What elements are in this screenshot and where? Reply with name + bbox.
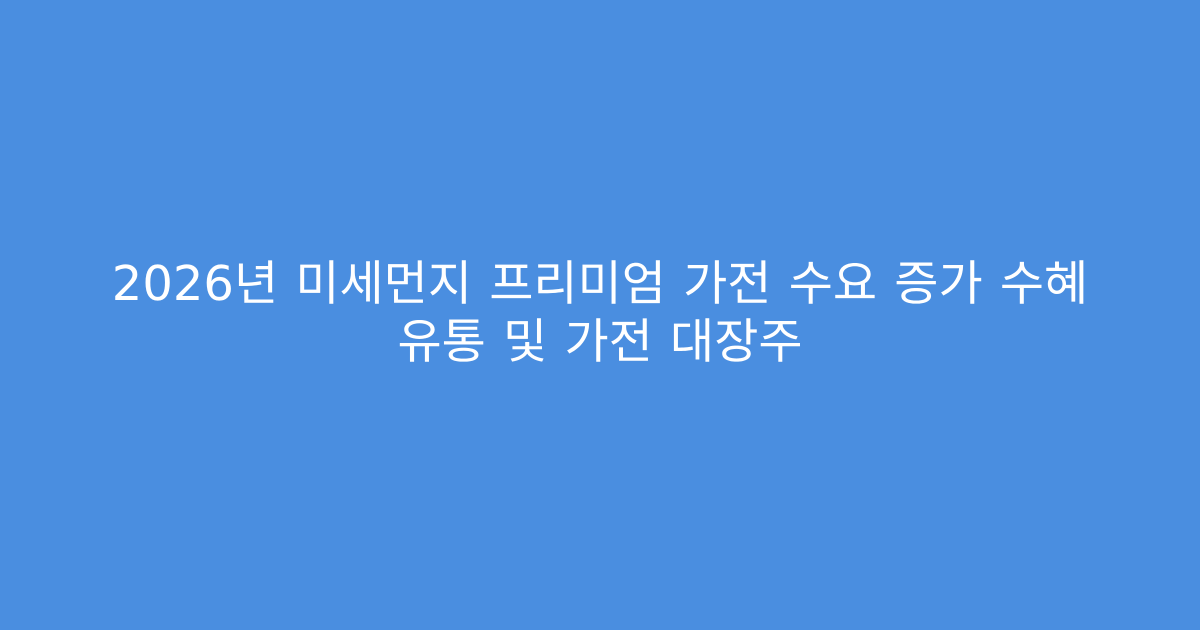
social-card-canvas: 2026년 미세먼지 프리미엄 가전 수요 증가 수혜 유통 및 가전 대장주 bbox=[0, 0, 1200, 630]
page-title: 2026년 미세먼지 프리미엄 가전 수요 증가 수혜 유통 및 가전 대장주 bbox=[90, 255, 1110, 371]
headline-block: 2026년 미세먼지 프리미엄 가전 수요 증가 수혜 유통 및 가전 대장주 bbox=[70, 255, 1130, 371]
